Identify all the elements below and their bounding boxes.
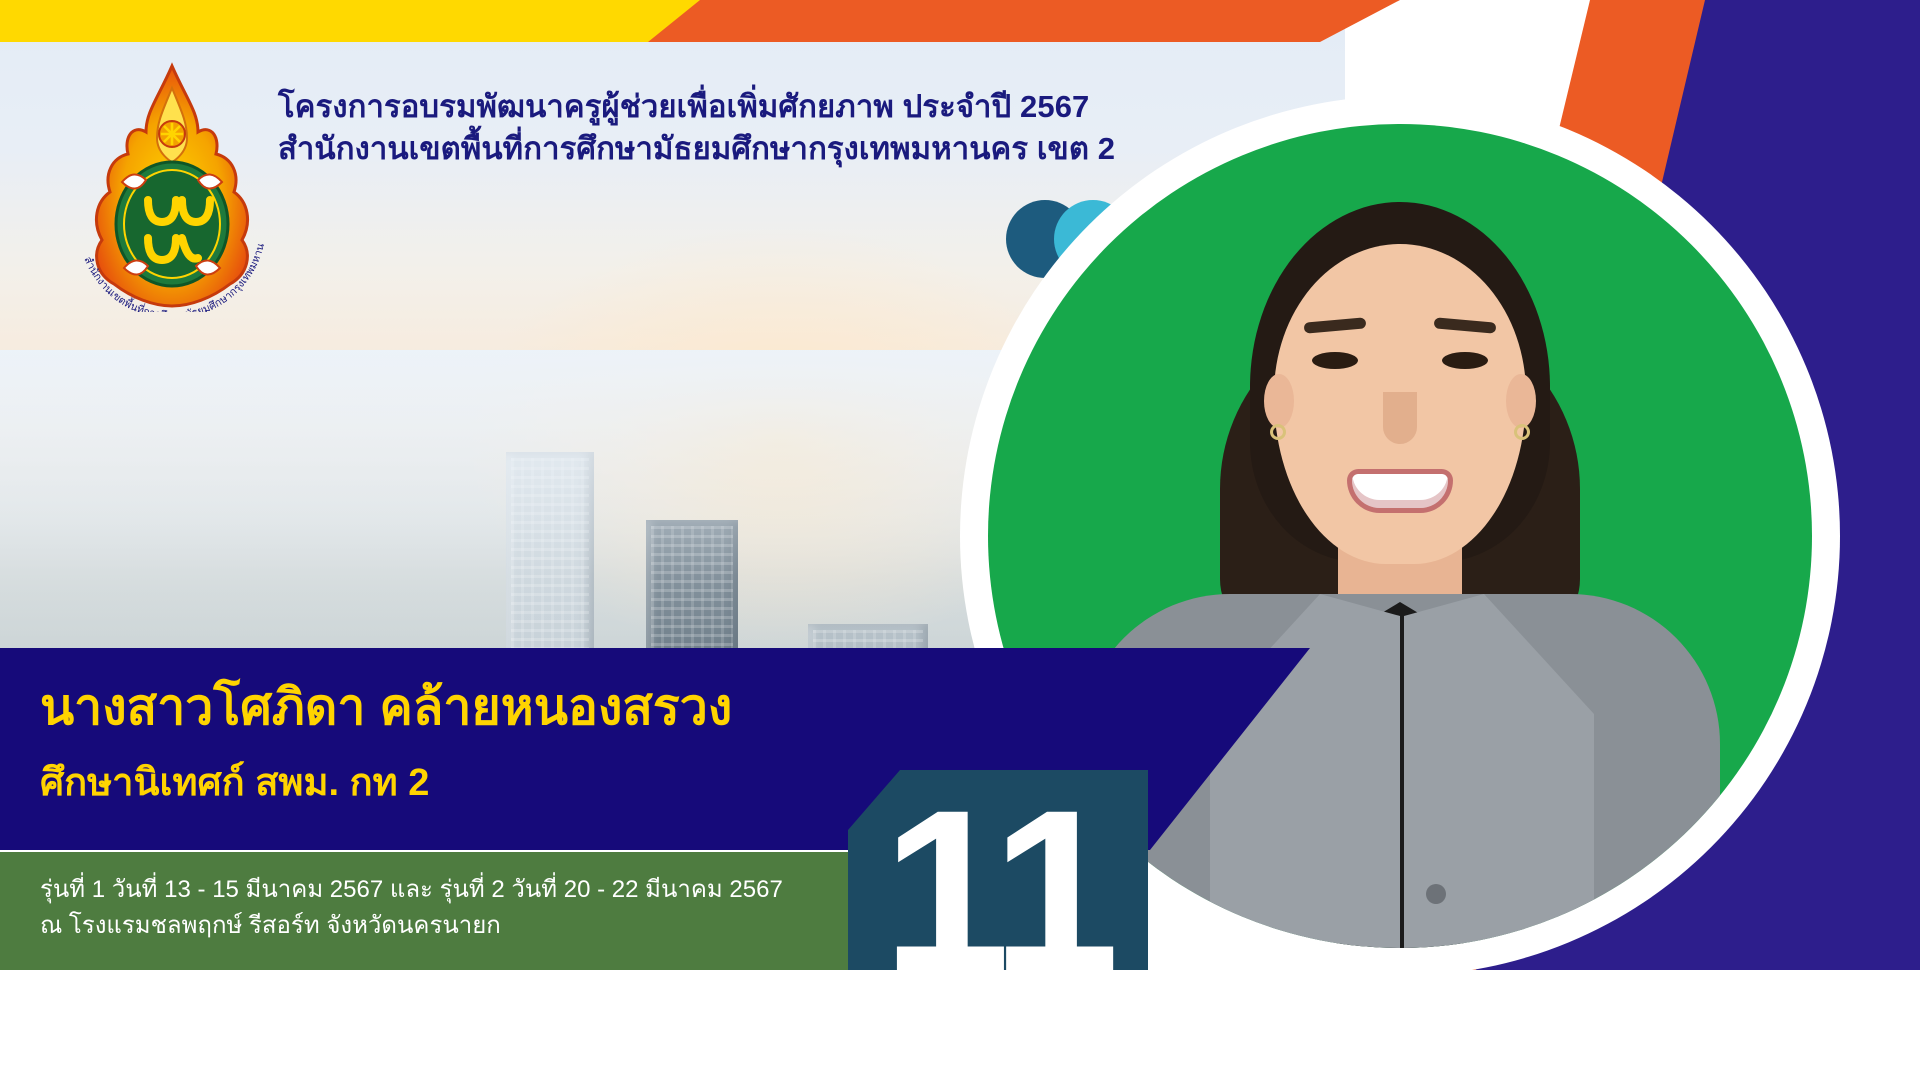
- header-title-line-2: สำนักงานเขตพื้นที่การศึกษามัธยมศึกษากรุง…: [278, 128, 1178, 170]
- header-title-line-1: โครงการอบรมพัฒนาครูผู้ช่วยเพื่อเพิ่มศักย…: [278, 86, 1178, 128]
- bottom-banner: วิทยากรพี่เลี้ยง: [0, 970, 1920, 1080]
- top-yellow-band: [0, 0, 700, 42]
- header-title-block: โครงการอบรมพัฒนาครูผู้ช่วยเพื่อเพิ่มศักย…: [278, 86, 1178, 170]
- spm-bangkok-emblem-icon: สำนักงานเขตพื้นที่การศึกษามัธยมศึกษากรุง…: [62, 62, 282, 312]
- poster-canvas: สำนักงานเขตพื้นที่การศึกษามัธยมศึกษากรุง…: [0, 0, 1920, 1080]
- organization-logo: สำนักงานเขตพื้นที่การศึกษามัธยมศึกษากรุง…: [62, 62, 282, 312]
- speaker-name: นางสาวโศภิดา คล้ายหนองสรวง: [40, 676, 1040, 738]
